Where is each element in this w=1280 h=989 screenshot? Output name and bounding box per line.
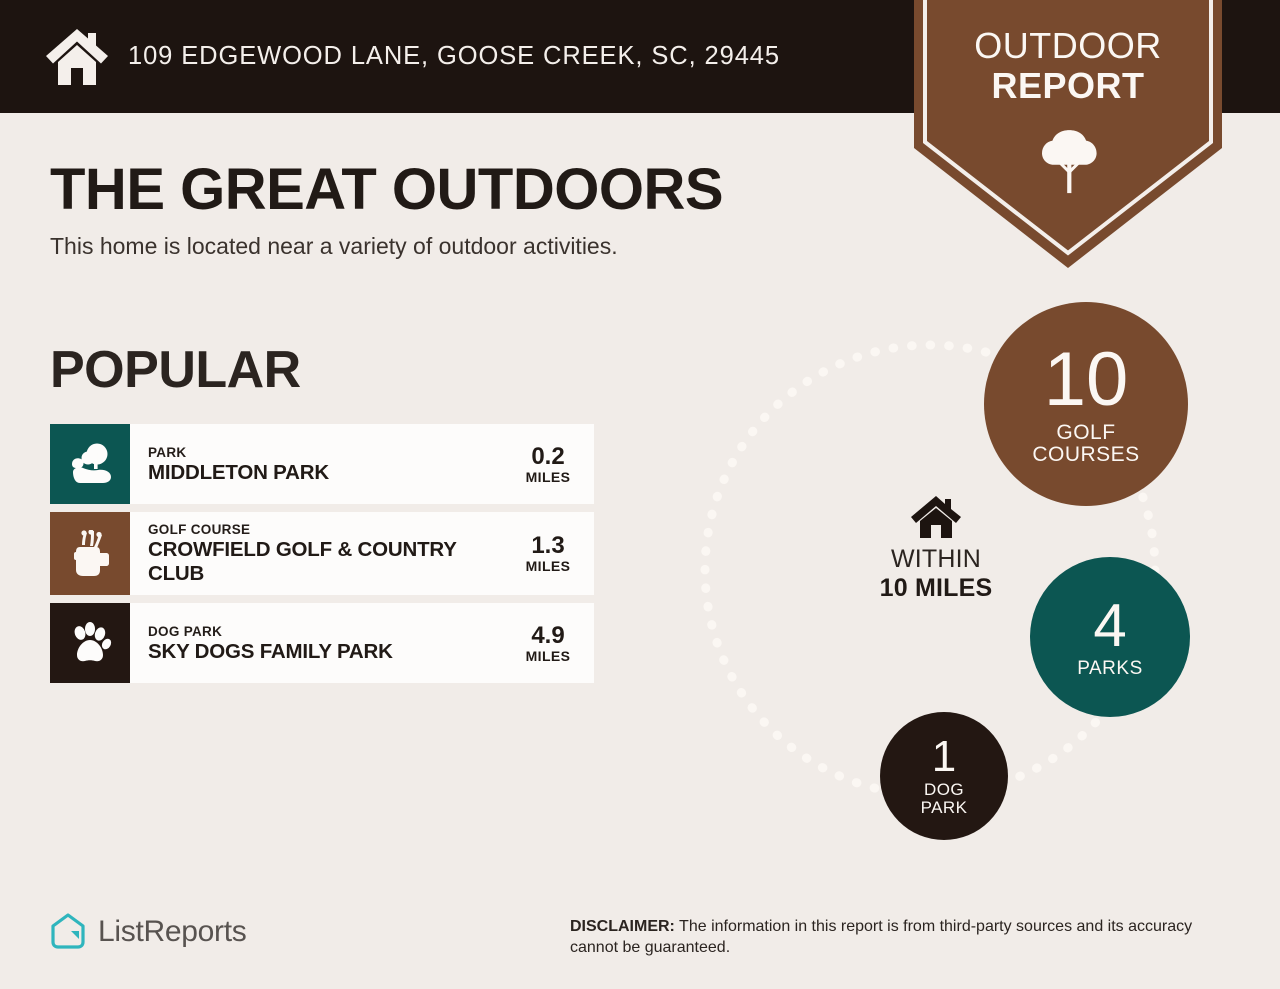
disclaimer: DISCLAIMER: The information in this repo… <box>570 916 1230 958</box>
poi-distance-unit: MILES <box>516 558 580 574</box>
page-subtitle: This home is located near a variety of o… <box>50 233 618 260</box>
golf-bag-icon <box>69 530 111 578</box>
poi-text: DOG PARK SKY DOGS FAMILY PARK <box>148 623 403 664</box>
diagram-center-line-2: 10 MILES <box>846 574 1026 603</box>
poi-distance-value: 4.9 <box>516 623 580 648</box>
list-item[interactable]: DOG PARK SKY DOGS FAMILY PARK 4.9 MILES <box>50 603 594 683</box>
poi-distance-value: 0.2 <box>516 444 580 469</box>
disclaimer-label: DISCLAIMER: <box>570 918 675 935</box>
poi-icon-box <box>50 603 130 683</box>
list-item[interactable]: PARK MIDDLETON PARK 0.2 MILES <box>50 424 594 504</box>
poi-name: SKY DOGS FAMILY PARK <box>148 640 393 664</box>
poi-category: DOG PARK <box>148 623 393 640</box>
poi-text: PARK MIDDLETON PARK <box>148 444 339 485</box>
poi-body: PARK MIDDLETON PARK 0.2 MILES <box>130 424 594 504</box>
diagram-center-label: WITHIN 10 MILES <box>846 495 1026 603</box>
poi-distance: 4.9 MILES <box>516 623 580 664</box>
stat-value: 4 <box>1093 596 1126 656</box>
listreports-house-pin-icon <box>50 912 86 952</box>
park-trees-icon <box>67 442 113 486</box>
badge-line-2: REPORT <box>914 66 1222 106</box>
poi-icon-box <box>50 512 130 595</box>
poi-body: GOLF COURSE CROWFIELD GOLF & COUNTRY CLU… <box>130 512 594 595</box>
diagram-center-line-1: WITHIN <box>846 545 1026 574</box>
poi-distance: 0.2 MILES <box>516 444 580 485</box>
stat-value: 1 <box>932 735 956 779</box>
stat-label-line-1: GOLF <box>1032 422 1139 444</box>
within-10-miles-diagram: 10 GOLF COURSES 4 PARKS 1 DOG PARK WITHI… <box>640 280 1240 860</box>
poi-distance-unit: MILES <box>516 648 580 664</box>
stat-value: 10 <box>1044 342 1129 418</box>
stat-label-line-1: DOG <box>921 781 968 799</box>
poi-text: GOLF COURSE CROWFIELD GOLF & COUNTRY CLU… <box>148 521 516 586</box>
stat-label-line-2: COURSES <box>1032 444 1139 466</box>
header-address: 109 EDGEWOOD LANE, GOOSE CREEK, SC, 2944… <box>128 42 780 71</box>
poi-distance-value: 1.3 <box>516 533 580 558</box>
stat-circle-golf-courses[interactable]: 10 GOLF COURSES <box>984 302 1188 506</box>
home-icon <box>44 27 110 87</box>
poi-category: GOLF COURSE <box>148 521 506 538</box>
stat-label: PARKS <box>1077 659 1143 679</box>
poi-name: MIDDLETON PARK <box>148 461 329 485</box>
poi-icon-box <box>50 424 130 504</box>
outdoor-report-page: 109 EDGEWOOD LANE, GOOSE CREEK, SC, 2944… <box>0 0 1280 989</box>
badge-line-1: OUTDOOR <box>914 26 1222 66</box>
list-item[interactable]: GOLF COURSE CROWFIELD GOLF & COUNTRY CLU… <box>50 512 594 595</box>
stat-circle-dog-park[interactable]: 1 DOG PARK <box>880 712 1008 840</box>
stat-label: DOG PARK <box>921 781 968 817</box>
paw-print-icon <box>68 621 112 665</box>
stat-circle-parks[interactable]: 4 PARKS <box>1030 557 1190 717</box>
popular-heading: POPULAR <box>50 340 301 400</box>
poi-distance-unit: MILES <box>516 469 580 485</box>
badge-text: OUTDOOR REPORT <box>914 26 1222 106</box>
poi-category: PARK <box>148 444 329 461</box>
popular-list: PARK MIDDLETON PARK 0.2 MILES <box>50 424 594 691</box>
home-icon <box>910 495 962 539</box>
outdoor-report-badge: OUTDOOR REPORT <box>914 0 1222 270</box>
listreports-logo[interactable]: ListReports <box>50 912 246 952</box>
page-title: THE GREAT OUTDOORS <box>50 157 723 223</box>
poi-body: DOG PARK SKY DOGS FAMILY PARK 4.9 MILES <box>130 603 594 683</box>
stat-label-line-2: PARK <box>921 799 968 817</box>
listreports-wordmark: ListReports <box>98 915 246 949</box>
poi-name: CROWFIELD GOLF & COUNTRY CLUB <box>148 538 506 586</box>
stat-label: GOLF COURSES <box>1032 422 1139 466</box>
poi-distance: 1.3 MILES <box>516 533 580 574</box>
